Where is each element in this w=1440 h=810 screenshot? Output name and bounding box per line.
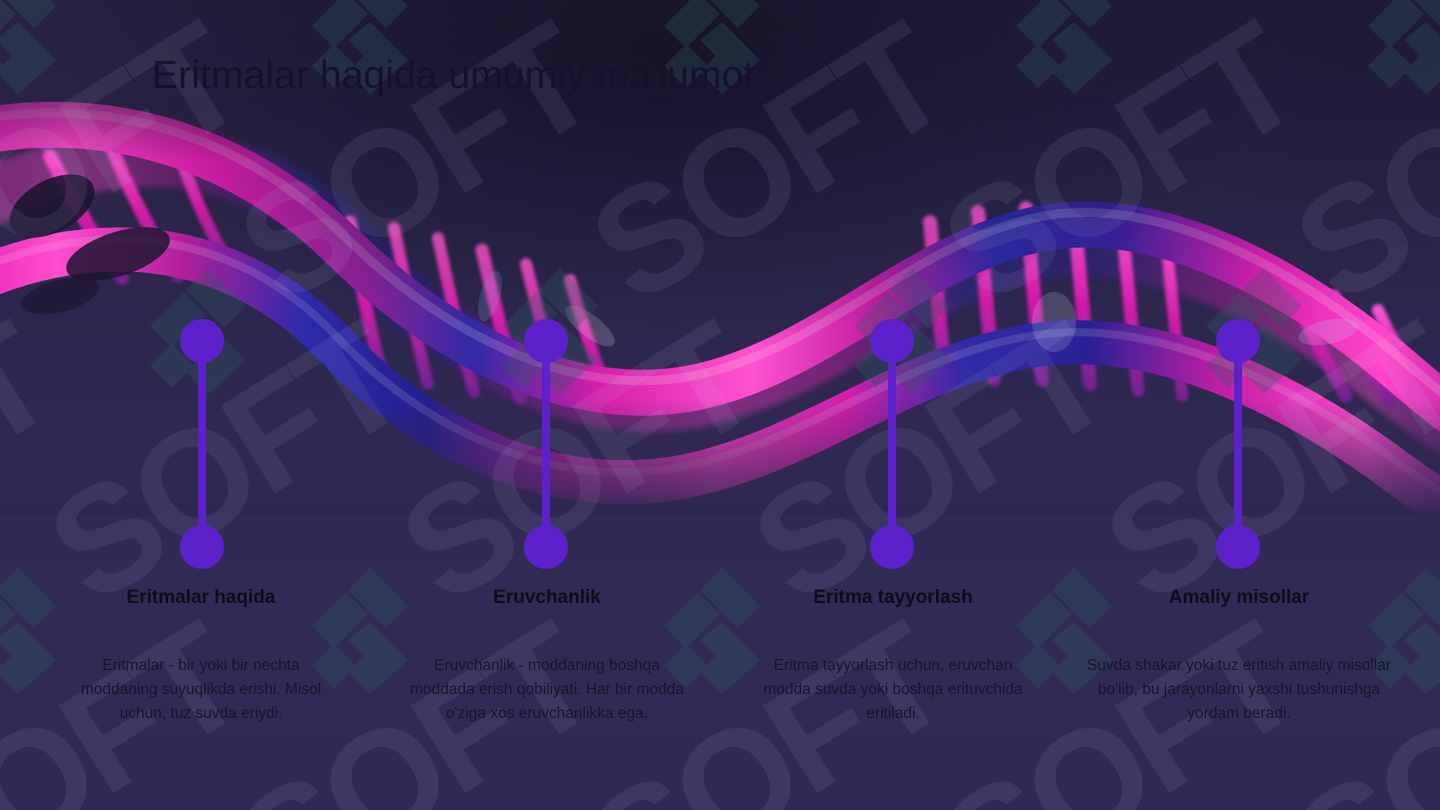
page-title: Eritmalar haqida umumiy ma'lumot bbox=[152, 52, 754, 100]
connector-dot-bottom bbox=[1216, 525, 1260, 569]
connector-dot-bottom bbox=[524, 525, 568, 569]
connector-line bbox=[542, 341, 550, 547]
connector-line bbox=[888, 341, 896, 547]
connector-3 bbox=[870, 319, 914, 569]
presentation-slide: SOFTSOFTSOFTSOFTSOFTSOFTSOFTSOFTSOFTSOFT… bbox=[0, 0, 1440, 810]
card-title: Eritmalar haqida bbox=[62, 586, 340, 610]
card-title: Eritma tayyorlash bbox=[762, 586, 1024, 610]
info-card-3: Eritma tayyorlash Eritma tayyorlash uchu… bbox=[762, 586, 1024, 726]
card-title: Eruvchanlik bbox=[406, 586, 688, 610]
info-card-1: Eritmalar haqida Eritmalar - bir yoki bi… bbox=[62, 586, 340, 726]
connector-2 bbox=[524, 319, 568, 569]
card-body: Eritma tayyorlash uchun, eruvchan modda … bbox=[762, 654, 1024, 726]
card-body: Eruvchanlik - moddaning boshqa moddada e… bbox=[406, 654, 688, 726]
connector-4 bbox=[1216, 319, 1260, 569]
card-body: Eritmalar - bir yoki bir nechta moddanin… bbox=[62, 654, 340, 726]
connector-1 bbox=[180, 319, 224, 569]
card-title: Amaliy misollar bbox=[1080, 586, 1398, 610]
connector-line bbox=[1234, 341, 1242, 547]
info-card-2: Eruvchanlik Eruvchanlik - moddaning bosh… bbox=[406, 586, 688, 726]
info-card-4: Amaliy misollar Suvda shakar yoki tuz er… bbox=[1080, 586, 1398, 726]
connector-dot-bottom bbox=[870, 525, 914, 569]
connector-line bbox=[198, 341, 206, 547]
connector-dot-bottom bbox=[180, 525, 224, 569]
card-body: Suvda shakar yoki tuz eritish amaliy mis… bbox=[1080, 654, 1398, 726]
